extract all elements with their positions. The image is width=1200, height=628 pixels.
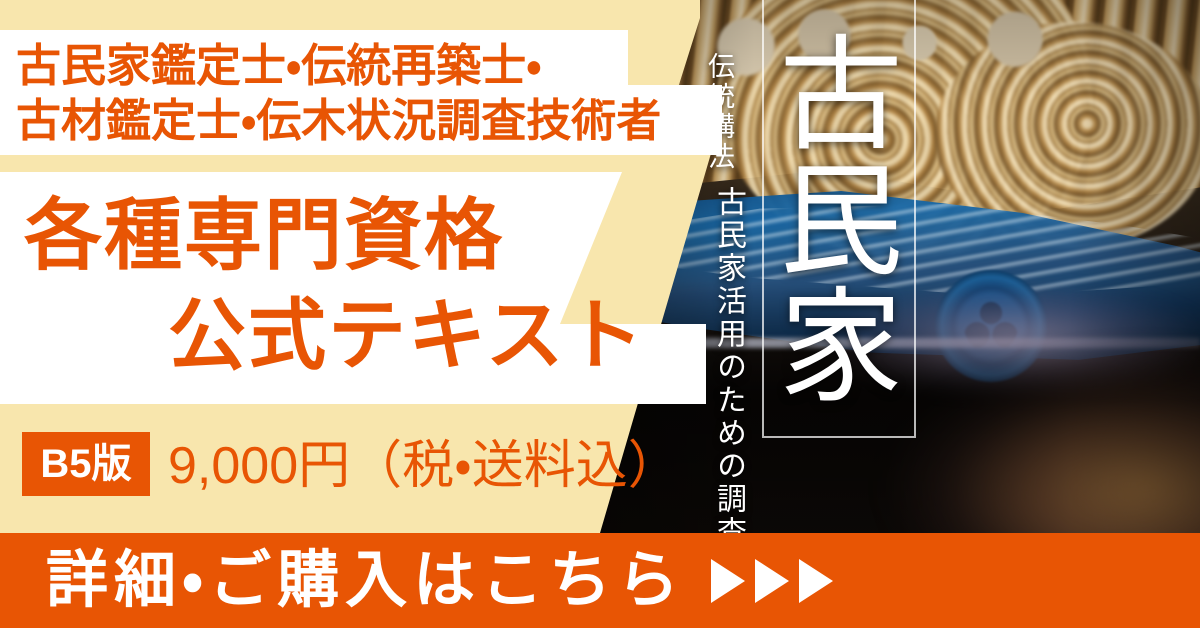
header-line-2: 古材鑑定士・伝木状況調査技術者 (16, 98, 661, 143)
arrow-right-icon-3 (799, 559, 833, 603)
cover-subtitle-main: 古民家活用のための調査と再生の (706, 186, 750, 556)
arrow-right-icon-2 (755, 559, 789, 603)
main-title-line-1: 各種専門資格 (24, 196, 504, 274)
price-text: 9,000円（税・送料込） (168, 438, 680, 495)
cover-title: 古民家 (776, 8, 906, 428)
cta-label: 詳細・ご購入はこちら (46, 550, 685, 612)
promo-banner: 古民家 伝統構法 古民家活用のための調査と再生の 古民家鑑定士・伝統再築士・ 古… (0, 0, 1200, 628)
format-badge: B5版 (22, 432, 150, 496)
cta-arrows (711, 559, 833, 603)
cta-bar[interactable]: 詳細・ご購入はこちら (0, 533, 1200, 628)
header-line-1: 古民家鑑定士・伝統再築士・ (16, 43, 542, 88)
arrow-right-icon-1 (711, 559, 745, 603)
main-title-line-2: 公式テキスト (168, 296, 646, 374)
format-badge-label: B5版 (40, 444, 131, 484)
